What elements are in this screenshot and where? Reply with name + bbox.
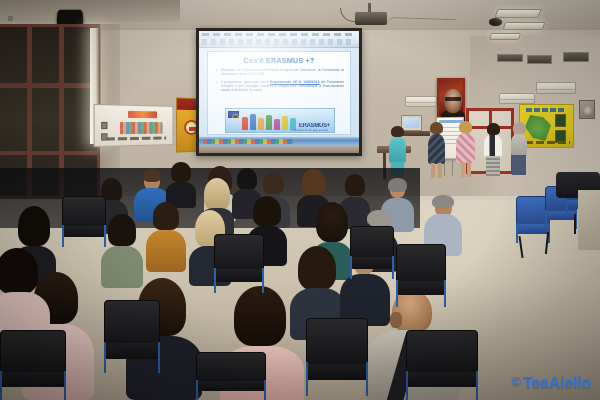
wall-pillar — [578, 190, 600, 250]
powerpoint-ribbon — [199, 31, 359, 48]
air-conditioner-icon — [499, 93, 535, 104]
taskbar-icons[interactable] — [203, 139, 293, 144]
ceiling-dome-detector-icon — [489, 18, 502, 26]
erasmus-plus-tagline: Arricchisce le vite, apre le menti — [291, 129, 328, 132]
audience-chair[interactable] — [0, 330, 66, 400]
windows-taskbar[interactable] — [199, 136, 359, 145]
presentation-slide: Cos'è ERASMUS +? Erasmus + è il programm… — [207, 51, 351, 135]
screen-bottom-rail — [199, 145, 359, 153]
slide-footer-image: ERASMUS+ Arricchisce le vite, apre le me… — [225, 108, 335, 133]
ceiling-projector-icon — [355, 12, 387, 25]
air-conditioner-icon — [536, 82, 576, 94]
watermark: ©TeaAiello — [511, 374, 591, 393]
watermark-text: TeaAiello — [523, 375, 591, 392]
wall-vent-icon — [527, 55, 552, 64]
white-project-banner — [94, 104, 174, 147]
audience-chair[interactable] — [396, 244, 446, 306]
ceiling-shadow — [0, 0, 180, 22]
monitor-stand — [8, 16, 13, 21]
wall-vent-icon — [563, 52, 589, 62]
flipchart-legs — [444, 159, 453, 176]
fluorescent-light-icon — [489, 33, 521, 40]
slide-bullet-2: Il programma, approvato con il Regolamen… — [216, 80, 344, 93]
eu-flag-icon — [228, 111, 239, 118]
slide-title: Cos'è ERASMUS +? — [208, 56, 350, 65]
audience-chair[interactable] — [350, 226, 394, 278]
air-conditioner-icon — [405, 96, 437, 107]
audience-chair[interactable] — [62, 196, 106, 246]
audience-chair[interactable] — [196, 352, 266, 400]
projection-screen: Cos'è ERASMUS +? Erasmus + è il programm… — [196, 28, 362, 156]
photo-scene: Cos'è ERASMUS +? Erasmus + è il programm… — [0, 0, 600, 400]
fluorescent-light-icon — [503, 22, 546, 30]
audience-chair[interactable] — [406, 330, 478, 400]
slide-bullet-1: Erasmus + è il programma dell'Unione eur… — [216, 68, 344, 77]
small-framed-picture — [579, 100, 595, 119]
audience-chair[interactable] — [104, 300, 160, 372]
computer-monitor — [401, 115, 422, 131]
slide-bullet-list: Erasmus + è il programma dell'Unione eur… — [216, 68, 344, 95]
fluorescent-light-icon — [494, 9, 542, 18]
audience-chair[interactable] — [214, 234, 264, 292]
yellow-poster-board — [519, 104, 574, 148]
wall-vent-icon — [497, 54, 523, 62]
audience-chair[interactable] — [306, 318, 368, 394]
copyright-icon: © — [511, 374, 520, 389]
projected-image: Cos'è ERASMUS +? Erasmus + è il programm… — [199, 31, 359, 145]
